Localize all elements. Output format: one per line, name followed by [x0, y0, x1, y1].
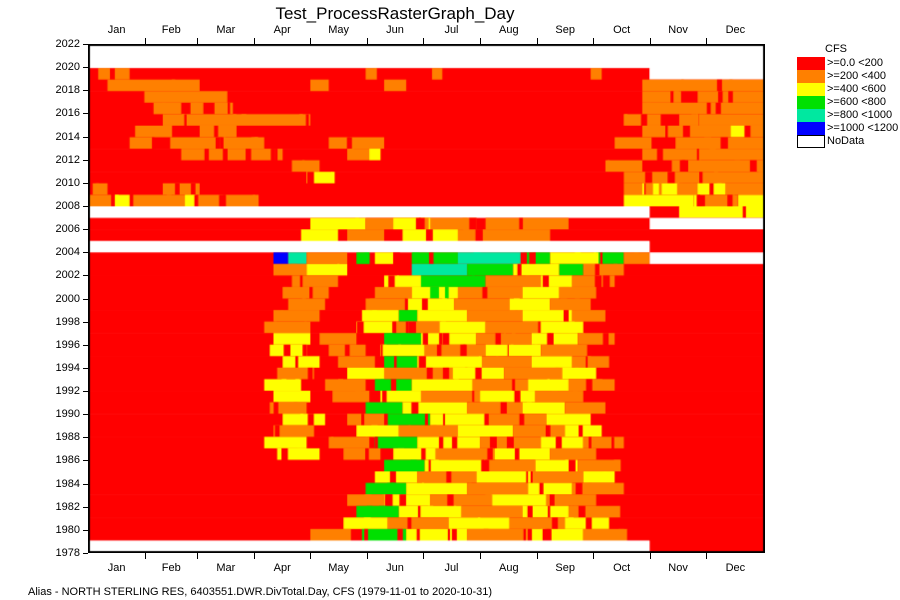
raster-graph-page: Test_ProcessRasterGraph_Day 202220202018… [0, 0, 900, 600]
legend-item[interactable]: >=200 <400 [797, 70, 897, 83]
x-axis-label-top: Dec [726, 24, 746, 36]
y-axis-label: 1990 [48, 408, 80, 420]
y-axis-label: 2004 [48, 246, 80, 258]
x-axis-tick-top [537, 38, 538, 44]
x-axis-label-bottom: Sep [555, 562, 575, 574]
x-axis-label-bottom: Mar [216, 562, 235, 574]
x-axis-tick-bottom [537, 553, 538, 559]
y-axis-tick [83, 368, 88, 369]
y-axis-tick [83, 299, 88, 300]
y-axis-label: 2010 [48, 177, 80, 189]
x-axis-label-bottom: Oct [613, 562, 630, 574]
y-axis-tick [83, 322, 88, 323]
x-axis-tick-top [197, 38, 198, 44]
y-axis-label: 1994 [48, 362, 80, 374]
legend-label: >=400 <600 [827, 83, 886, 96]
x-axis-label-top: Mar [216, 24, 235, 36]
x-axis-label-top: Aug [499, 24, 519, 36]
y-axis-label: 2006 [48, 223, 80, 235]
x-axis-tick-top [480, 38, 481, 44]
raster-heatmap[interactable] [89, 45, 764, 552]
legend-item[interactable]: NoData [797, 135, 897, 148]
y-axis-label: 2000 [48, 293, 80, 305]
x-axis-label-top: Jan [108, 24, 126, 36]
y-axis-tick [83, 206, 88, 207]
legend-item[interactable]: >=400 <600 [797, 83, 897, 96]
legend-label: >=200 <400 [827, 70, 886, 83]
legend-label: >=800 <1000 [827, 109, 892, 122]
x-axis-tick-bottom [367, 553, 368, 559]
x-axis-label-bottom: Jul [444, 562, 458, 574]
x-axis-tick-top [593, 38, 594, 44]
x-axis-label-top: Jul [444, 24, 458, 36]
legend-swatch-icon [797, 70, 825, 83]
y-axis-label: 1998 [48, 316, 80, 328]
y-axis-label: 2008 [48, 200, 80, 212]
y-axis-label: 1996 [48, 339, 80, 351]
x-axis-label-bottom: May [328, 562, 349, 574]
x-axis-tick-top [310, 38, 311, 44]
x-axis-tick-top [650, 38, 651, 44]
y-axis-label: 1980 [48, 524, 80, 536]
legend-swatch-icon [797, 122, 825, 135]
y-axis-tick [83, 160, 88, 161]
y-axis-label: 1992 [48, 385, 80, 397]
x-axis-label-top: Sep [555, 24, 575, 36]
y-axis-tick [83, 137, 88, 138]
y-axis-label: 2018 [48, 84, 80, 96]
y-axis-tick [83, 113, 88, 114]
caption: Alias - NORTH STERLING RES, 6403551.DWR.… [28, 586, 492, 598]
y-axis-label: 1982 [48, 501, 80, 513]
x-axis-label-bottom: Dec [726, 562, 746, 574]
legend-item[interactable]: >=1000 <1200 [797, 122, 897, 135]
x-axis-tick-top [367, 38, 368, 44]
x-axis-label-top: Feb [162, 24, 181, 36]
y-axis-label: 1988 [48, 431, 80, 443]
legend-label: NoData [827, 135, 864, 148]
x-axis-tick-bottom [197, 553, 198, 559]
y-axis-label: 2012 [48, 154, 80, 166]
x-axis-tick-top [254, 38, 255, 44]
y-axis-tick [83, 391, 88, 392]
y-axis-label: 2002 [48, 269, 80, 281]
plot-area [88, 44, 765, 553]
y-axis-label: 2016 [48, 107, 80, 119]
legend-label: >=600 <800 [827, 96, 886, 109]
y-axis-label: 1984 [48, 478, 80, 490]
x-axis-tick-bottom [480, 553, 481, 559]
y-axis-label: 1986 [48, 454, 80, 466]
x-axis-label-bottom: Feb [162, 562, 181, 574]
legend-item[interactable]: >=800 <1000 [797, 109, 897, 122]
legend-swatch-icon [797, 57, 825, 70]
y-axis-tick [83, 183, 88, 184]
y-axis-tick [83, 414, 88, 415]
y-axis-tick [83, 530, 88, 531]
x-axis-tick-top [145, 38, 146, 44]
y-axis-tick [83, 437, 88, 438]
x-axis-label-top: Jun [386, 24, 404, 36]
x-axis-tick-bottom [145, 553, 146, 559]
legend-label: >=1000 <1200 [827, 122, 898, 135]
x-axis-label-bottom: Jan [108, 562, 126, 574]
y-axis-tick [83, 44, 88, 45]
x-axis-label-top: Nov [668, 24, 688, 36]
y-axis-tick [83, 345, 88, 346]
legend-item[interactable]: >=600 <800 [797, 96, 897, 109]
y-axis-tick [83, 229, 88, 230]
x-axis-tick-bottom [706, 553, 707, 559]
x-axis-tick-bottom [650, 553, 651, 559]
x-axis-label-top: Oct [613, 24, 630, 36]
legend-swatch-icon [797, 83, 825, 96]
y-axis-tick [83, 252, 88, 253]
x-axis-tick-bottom [593, 553, 594, 559]
legend-swatch-icon [797, 135, 825, 148]
x-axis-label-top: May [328, 24, 349, 36]
y-axis-label: 2014 [48, 131, 80, 143]
x-axis-tick-bottom [254, 553, 255, 559]
x-axis-label-bottom: Nov [668, 562, 688, 574]
y-axis-tick [83, 507, 88, 508]
x-axis-tick-bottom [423, 553, 424, 559]
y-axis-label: 2020 [48, 61, 80, 73]
y-axis-tick [83, 553, 88, 554]
x-axis-tick-top [423, 38, 424, 44]
page-title: Test_ProcessRasterGraph_Day [0, 4, 790, 24]
x-axis-label-bottom: Apr [274, 562, 291, 574]
x-axis-label-bottom: Jun [386, 562, 404, 574]
y-axis-tick [83, 484, 88, 485]
x-axis-label-top: Apr [274, 24, 291, 36]
x-axis-tick-bottom [310, 553, 311, 559]
y-axis-label: 2022 [48, 38, 80, 50]
legend-title: CFS [825, 43, 847, 55]
y-axis-tick [83, 90, 88, 91]
y-axis-label: 1978 [48, 547, 80, 559]
legend-label: >=0.0 <200 [827, 57, 883, 70]
x-axis-label-bottom: Aug [499, 562, 519, 574]
legend-swatch-icon [797, 109, 825, 122]
legend-swatch-icon [797, 96, 825, 109]
y-axis-tick [83, 460, 88, 461]
y-axis-tick [83, 67, 88, 68]
y-axis-tick [83, 275, 88, 276]
legend-item[interactable]: >=0.0 <200 [797, 57, 897, 70]
x-axis-tick-top [706, 38, 707, 44]
